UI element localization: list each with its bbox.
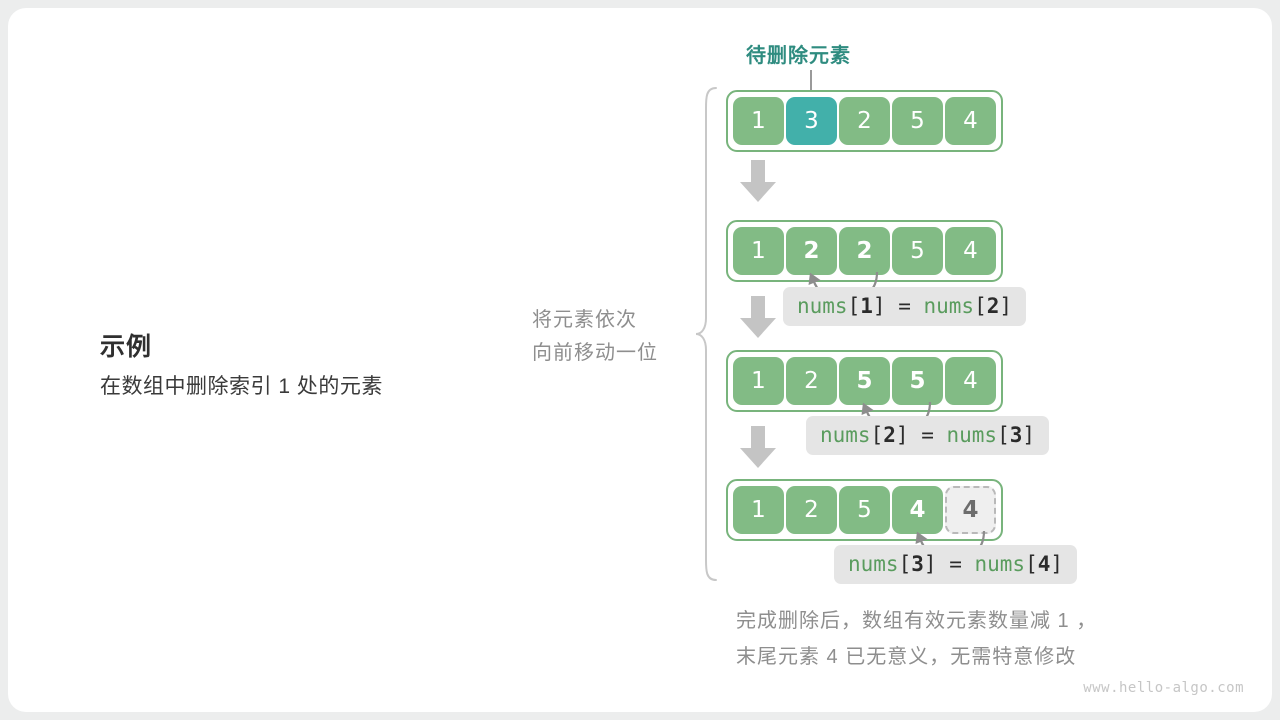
array-cell: 4 <box>945 486 996 534</box>
example-description-block: 示例 在数组中删除索引 1 处的元素 <box>100 330 480 402</box>
example-title: 示例 <box>100 330 480 364</box>
code-lhs-name: nums <box>848 552 899 576</box>
shift-annotation-line-1: 将元素依次 <box>532 304 692 337</box>
bottom-caption: 完成删除后，数组有效元素数量减 1 ， 末尾元素 4 已无意义，无需特意修改 <box>736 603 1097 675</box>
code-lhs-index: 3 <box>911 552 924 576</box>
code-lhs-index: 1 <box>860 294 873 318</box>
array-cell: 5 <box>892 97 943 145</box>
array-cell: 4 <box>945 97 996 145</box>
array-cell: 4 <box>945 227 996 275</box>
code-bracket-open-2: [ <box>974 294 987 318</box>
array-cell: 4 <box>892 486 943 534</box>
code-rhs-index: 2 <box>987 294 1000 318</box>
array-cell: 1 <box>733 227 784 275</box>
code-bracket-open-2: [ <box>1025 552 1038 576</box>
code-bracket-close-2: ] <box>1022 423 1035 447</box>
array-cell: 5 <box>839 486 890 534</box>
array-cell: 2 <box>786 227 837 275</box>
code-bracket-open-2: [ <box>997 423 1010 447</box>
code-lhs-name: nums <box>797 294 848 318</box>
bottom-caption-line-1: 完成删除后，数组有效元素数量减 1 ， <box>736 603 1097 639</box>
array-cell: 2 <box>786 486 837 534</box>
code-lhs-name: nums <box>820 423 871 447</box>
code-bracket-open: [ <box>899 552 912 576</box>
array-row-initial: 13254 <box>726 90 1003 152</box>
group-brace <box>694 86 720 587</box>
down-arrow-icon-3 <box>738 426 778 470</box>
array-cell: 1 <box>733 97 784 145</box>
array-cell: 5 <box>839 357 890 405</box>
diagram-canvas: 示例 在数组中删除索引 1 处的元素 将元素依次 向前移动一位 待删除元素 13… <box>0 0 1280 720</box>
array-cell: 4 <box>945 357 996 405</box>
code-bracket-close-2: ] <box>999 294 1012 318</box>
down-arrow-icon-2 <box>738 296 778 340</box>
example-description: 在数组中删除索引 1 处的元素 <box>100 372 480 402</box>
code-rhs-index: 3 <box>1010 423 1023 447</box>
array-cell: 2 <box>786 357 837 405</box>
code-label-step1: nums[1] = nums[2] <box>783 287 1026 326</box>
code-rhs-name: nums <box>974 552 1025 576</box>
array-cell: 1 <box>733 486 784 534</box>
array-cell: 2 <box>839 97 890 145</box>
array-cell: 5 <box>892 227 943 275</box>
array-cell: 2 <box>839 227 890 275</box>
code-bracket-close-2: ] <box>1050 552 1063 576</box>
code-rhs-name: nums <box>946 423 997 447</box>
array-cell: 5 <box>892 357 943 405</box>
code-bracket-open: [ <box>848 294 861 318</box>
down-arrow-icon-1 <box>738 160 778 204</box>
code-label-step2: nums[2] = nums[3] <box>806 416 1049 455</box>
array-cell: 3 <box>786 97 837 145</box>
code-label-step3: nums[3] = nums[4] <box>834 545 1077 584</box>
code-operator: = <box>921 423 946 447</box>
shift-annotation: 将元素依次 向前移动一位 <box>532 304 692 370</box>
code-bracket-open: [ <box>871 423 884 447</box>
watermark: www.hello-algo.com <box>1083 680 1244 696</box>
bottom-caption-line-2: 末尾元素 4 已无意义，无需特意修改 <box>736 639 1097 675</box>
code-bracket-close: ] <box>873 294 898 318</box>
code-bracket-close: ] <box>896 423 921 447</box>
code-rhs-index: 4 <box>1038 552 1051 576</box>
code-operator: = <box>898 294 923 318</box>
code-operator: = <box>949 552 974 576</box>
diagram-card: 示例 在数组中删除索引 1 处的元素 将元素依次 向前移动一位 待删除元素 13… <box>8 8 1272 712</box>
shift-annotation-line-2: 向前移动一位 <box>532 337 692 370</box>
delete-target-label: 待删除元素 <box>746 39 851 68</box>
code-rhs-name: nums <box>923 294 974 318</box>
code-bracket-close: ] <box>924 552 949 576</box>
code-lhs-index: 2 <box>883 423 896 447</box>
array-cell: 1 <box>733 357 784 405</box>
